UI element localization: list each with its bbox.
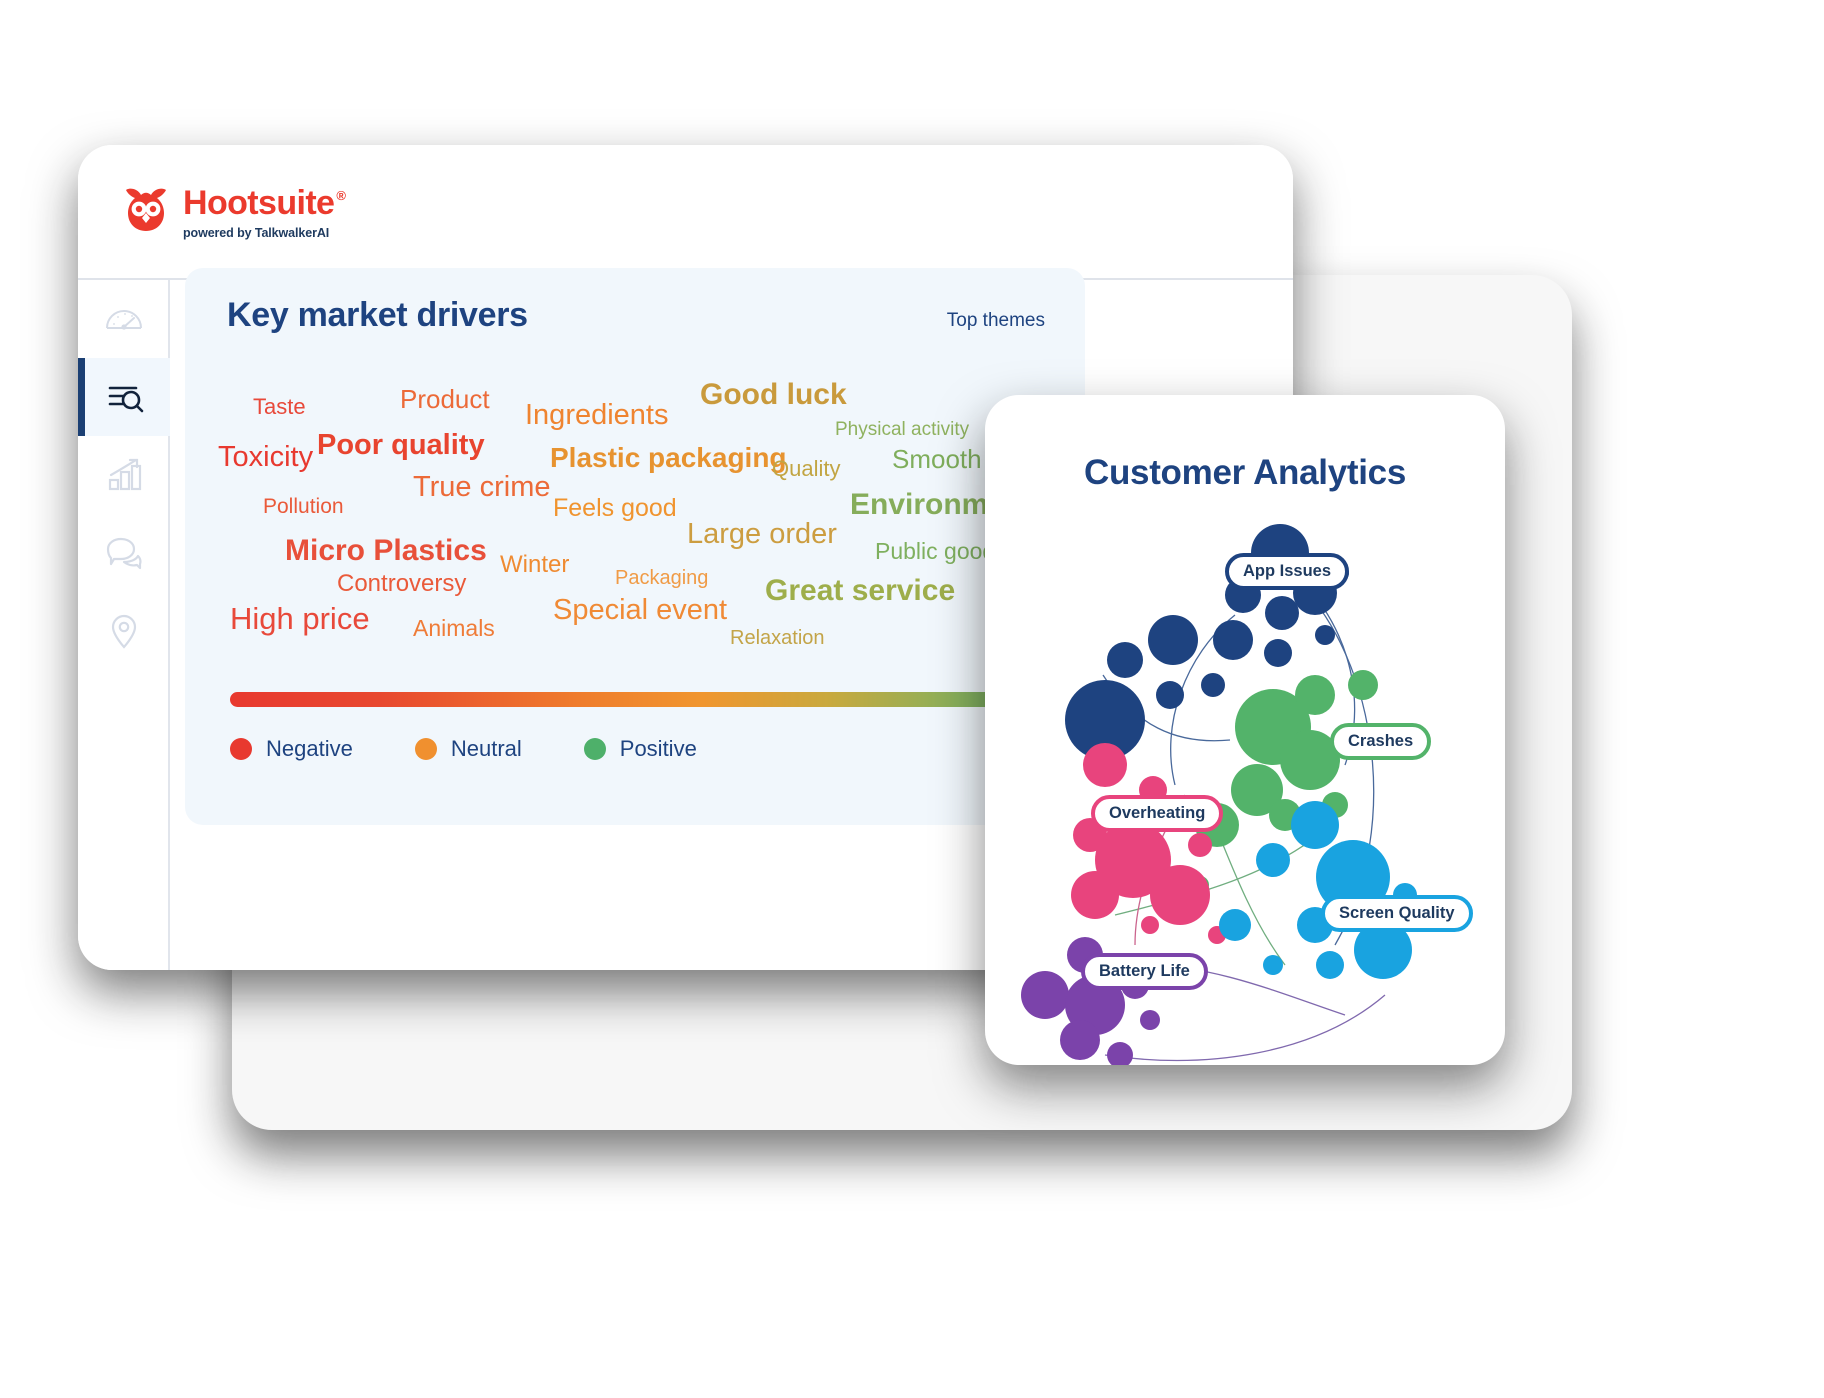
legend-dot-icon [415, 738, 437, 760]
left-sidebar [78, 280, 170, 970]
legend-label: Neutral [451, 736, 522, 762]
cloud-word[interactable]: Plastic packaging [550, 444, 787, 472]
cluster-overheating [1071, 743, 1226, 944]
cloud-word[interactable]: Toxicity [218, 443, 313, 472]
cloud-word[interactable]: Animals [413, 617, 495, 640]
cloud-word[interactable]: Smooth [892, 446, 982, 472]
legend-item[interactable]: Positive [584, 736, 697, 762]
cloud-word[interactable]: Public good [875, 540, 995, 563]
cloud-word[interactable]: Great service [765, 576, 955, 606]
cloud-word[interactable]: Good luck [700, 380, 847, 410]
cloud-word[interactable]: Physical activity [835, 420, 969, 439]
cloud-word[interactable]: Pollution [263, 496, 344, 517]
registered-mark: ® [336, 189, 345, 202]
legend-item[interactable]: Neutral [415, 736, 522, 762]
hootsuite-logo[interactable]: Hootsuite® powered by TalkwalkerAI [120, 183, 345, 240]
cluster-label-pill[interactable]: Overheating [1091, 795, 1223, 832]
legend-dot-icon [584, 738, 606, 760]
location-pin-icon [102, 609, 146, 653]
key-market-drivers-panel: Key market drivers Top themes TasteProdu… [185, 268, 1085, 825]
brand-name-text: Hootsuite [183, 186, 334, 220]
analytics-title: Customer Analytics [985, 453, 1505, 493]
cloud-word[interactable]: Packaging [615, 568, 708, 588]
sentiment-gradient-bar [230, 692, 1060, 707]
gauge-icon [102, 297, 146, 341]
cloud-word[interactable]: High price [230, 603, 370, 634]
cloud-word[interactable]: Special event [553, 596, 727, 625]
app-topbar: Hootsuite® powered by TalkwalkerAI [78, 145, 1293, 280]
cloud-word[interactable]: Controversy [337, 572, 466, 596]
chat-bubbles-icon [102, 531, 146, 575]
sidebar-item-dashboard[interactable] [78, 280, 170, 358]
cloud-word[interactable]: Taste [253, 396, 306, 418]
cluster-label-pill[interactable]: Screen Quality [1321, 895, 1473, 932]
legend-label: Negative [266, 736, 353, 762]
sidebar-item-analytics[interactable] [78, 436, 170, 514]
search-list-icon [102, 375, 146, 419]
legend-dot-icon [230, 738, 252, 760]
brand-name: Hootsuite® [183, 186, 345, 220]
sidebar-item-locations[interactable] [78, 592, 170, 670]
cloud-word[interactable]: Ingredients [525, 401, 669, 430]
cluster-label-pill[interactable]: Crashes [1330, 723, 1431, 760]
cloud-word[interactable]: Winter [500, 553, 569, 577]
cluster-label-pill[interactable]: App Issues [1225, 553, 1349, 590]
sentiment-legend: NegativeNeutralPositive [230, 736, 697, 762]
cloud-word[interactable]: Product [400, 386, 490, 412]
cloud-word[interactable]: Feels good [553, 496, 677, 521]
cloud-word[interactable]: Quality [772, 458, 840, 480]
screenshot-root: Hootsuite® powered by TalkwalkerAI [0, 0, 1824, 1398]
sidebar-item-conversations[interactable] [78, 514, 170, 592]
bar-chart-icon [102, 453, 146, 497]
sidebar-item-search[interactable] [78, 358, 170, 436]
cloud-word[interactable]: Large order [687, 520, 837, 549]
customer-analytics-card: Customer Analytics [985, 395, 1505, 1065]
legend-item[interactable]: Negative [230, 736, 353, 762]
cloud-word[interactable]: Relaxation [730, 628, 825, 648]
cloud-word[interactable]: True crime [413, 473, 551, 502]
word-cloud: TasteProductIngredientsGood luckPhysical… [185, 268, 1085, 708]
cloud-word[interactable]: Poor quality [317, 431, 485, 460]
brand-tagline: powered by TalkwalkerAI [183, 226, 345, 240]
legend-label: Positive [620, 736, 697, 762]
cloud-word[interactable]: Micro Plastics [285, 536, 487, 566]
owl-logo-icon [120, 183, 172, 235]
cluster-screen-quality [1219, 801, 1417, 979]
cluster-label-pill[interactable]: Battery Life [1081, 953, 1208, 990]
